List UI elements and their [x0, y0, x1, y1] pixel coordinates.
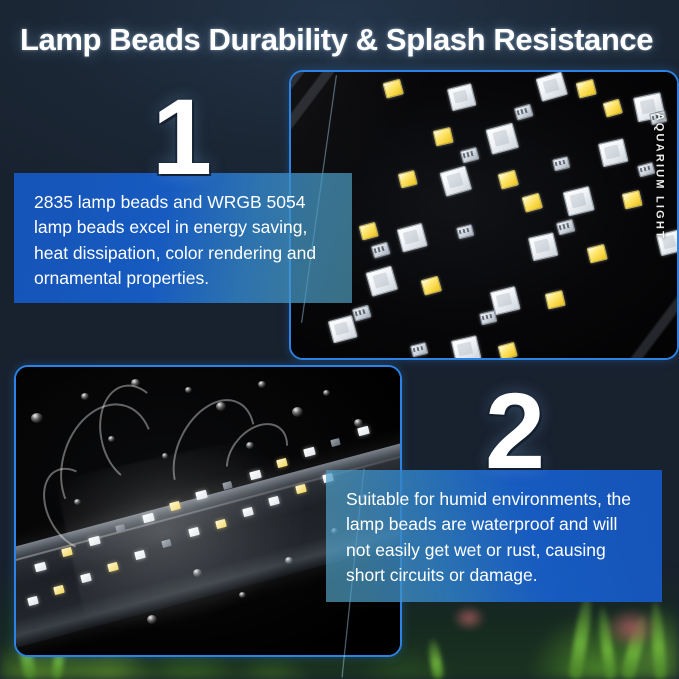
led-bead-chip — [479, 311, 495, 324]
led-bead-white — [598, 138, 626, 165]
feature-card-2-text: Suitable for humid environments, the lam… — [346, 487, 642, 589]
infographic-poster: Lamp Beads Durability & Splash Resistanc… — [0, 0, 679, 679]
page-title: Lamp Beads Durability & Splash Resistanc… — [20, 22, 660, 58]
led-bead-white — [397, 224, 426, 251]
water-droplet — [131, 379, 140, 387]
led-bead-white — [447, 84, 474, 110]
water-droplet — [147, 615, 157, 624]
led-bead-yellow — [382, 79, 401, 97]
aquarium-light-print-label: AQUARIUM LIGHT — [653, 113, 665, 240]
led-bead-yellow — [498, 342, 516, 358]
led-bead-white — [563, 187, 593, 215]
plant-red-cluster — [604, 607, 658, 649]
led-bead-yellow — [421, 276, 440, 294]
led-bead-yellow — [521, 193, 540, 211]
led-bead-chip — [460, 147, 477, 162]
led-bead-white — [451, 336, 479, 360]
water-droplet — [216, 402, 226, 411]
led-bead-yellow — [622, 190, 641, 207]
led-bead-chip — [410, 342, 426, 355]
led-bead-white — [528, 233, 556, 260]
led-bead-chip — [553, 156, 569, 169]
led-bead-yellow — [544, 291, 563, 308]
led-bead-yellow — [432, 128, 451, 145]
feature-card-1-text: 2835 lamp beads and WRGB 5054 lamp beads… — [34, 190, 332, 292]
step-number-1: 1 — [152, 83, 212, 191]
led-bead-yellow — [498, 170, 517, 188]
led-bead-yellow — [398, 170, 416, 186]
led-bead-chip — [556, 219, 573, 234]
water-droplet — [285, 557, 293, 564]
water-droplet — [239, 592, 246, 598]
led-bead-white — [327, 315, 355, 341]
led-bead-yellow — [587, 245, 606, 262]
led-bead-yellow — [359, 222, 377, 238]
led-bead-yellow — [575, 79, 594, 96]
led-bead-chip — [514, 104, 531, 119]
led-bead-white — [485, 123, 516, 153]
plant-red-cluster — [452, 605, 486, 631]
led-bead-white — [366, 266, 396, 295]
water-droplet — [193, 569, 202, 577]
water-droplet — [354, 419, 363, 427]
step-number-2: 2 — [485, 377, 545, 485]
led-bead-chip — [456, 225, 472, 238]
